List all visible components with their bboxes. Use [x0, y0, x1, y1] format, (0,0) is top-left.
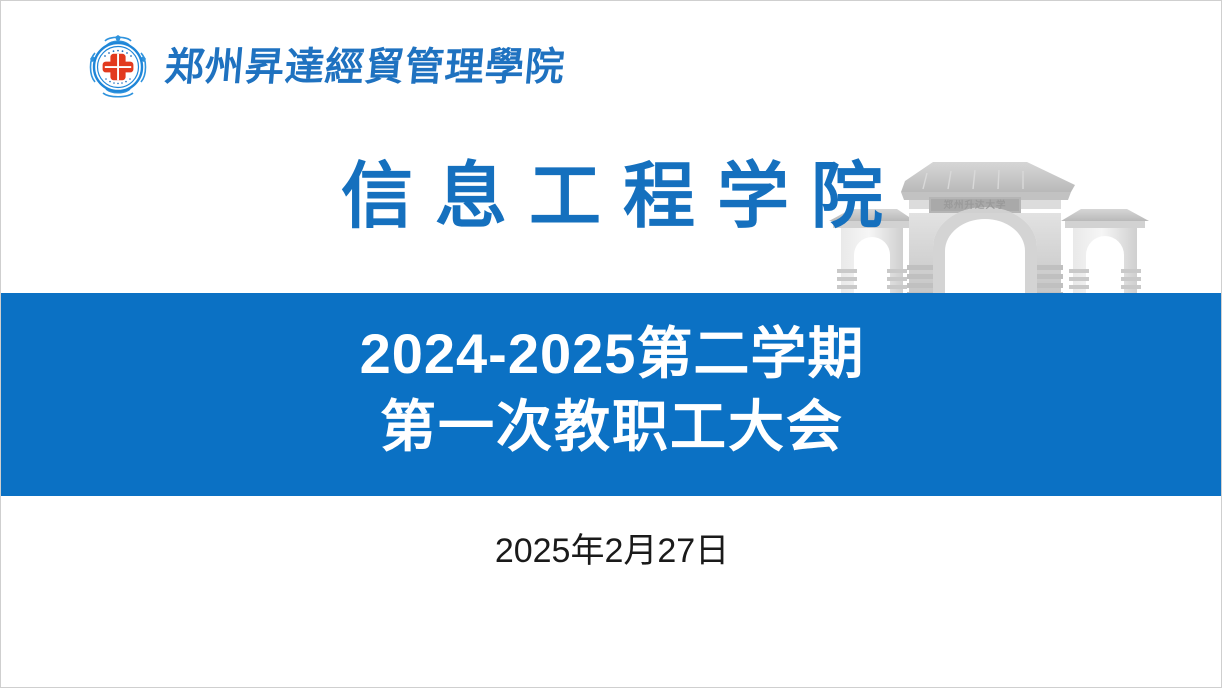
- banner-line-semester: 2024-2025第二学期: [1, 319, 1222, 389]
- university-seal-icon: [85, 34, 151, 100]
- page-title: 信息工程学院: [1, 149, 1222, 245]
- event-date: 2025年2月27日: [1, 529, 1222, 573]
- university-brand-lockup: 郑州昇達經貿管理學院: [85, 31, 565, 103]
- university-name: 郑州昇達經貿管理學院: [163, 48, 566, 87]
- banner-line-meeting: 第一次教职工大会: [1, 392, 1222, 462]
- title-banner: 2024-2025第二学期 第一次教职工大会: [1, 293, 1222, 496]
- presentation-slide: 郑州昇達經貿管理學院: [0, 0, 1222, 688]
